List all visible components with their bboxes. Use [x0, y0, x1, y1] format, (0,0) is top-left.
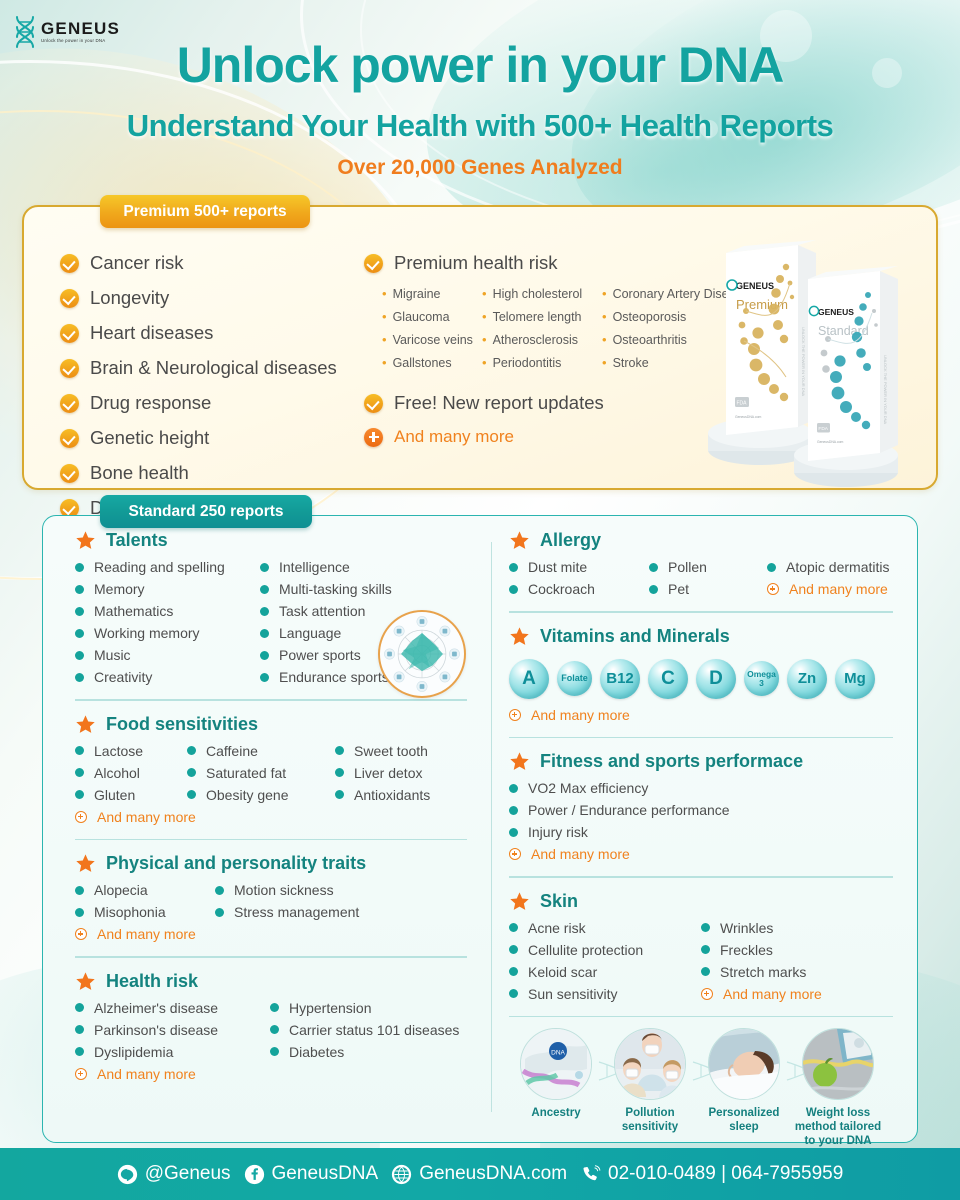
section-header: Skin: [509, 891, 893, 912]
list-item: Alzheimer's disease: [75, 1000, 270, 1016]
bullet-dot-icon: [260, 563, 269, 572]
svg-text:FDA: FDA: [737, 401, 748, 407]
health-risk-label: Atherosclerosis: [493, 333, 578, 347]
premium-badge: Premium 500+ reports: [100, 195, 310, 228]
bullet-dot-icon: [270, 1025, 279, 1034]
more-label: And many more: [531, 846, 630, 862]
section-title: Health risk: [106, 971, 198, 992]
item-label: Keloid scar: [528, 964, 597, 980]
bullet-dot-icon: •: [382, 310, 387, 324]
star-icon: [509, 530, 530, 551]
item-label: Cellulite protection: [528, 942, 643, 958]
svg-text:UNLOCK THE POWER IN YOUR DNA: UNLOCK THE POWER IN YOUR DNA: [801, 327, 806, 397]
phone-numbers: 02-010-0489 | 064-7955959: [608, 1163, 843, 1185]
and-many-more-link[interactable]: And many more: [701, 986, 893, 1002]
bullet-dot-icon: [187, 746, 196, 755]
bullet-dot-icon: [260, 673, 269, 682]
bullet-dot-icon: •: [602, 287, 607, 301]
item-label: Antioxidants: [354, 787, 430, 803]
check-icon: [364, 394, 383, 413]
premium-item-label: Heart diseases: [90, 322, 213, 344]
item-label: Mathematics: [94, 603, 173, 619]
vitamin-bubble-folate: Folate: [557, 661, 592, 696]
section-food-sensitivities: Food sensitivities Lactose Caffeine Swee…: [61, 714, 481, 825]
section-items: Alopecia Motion sickness Misophonia Stre…: [75, 882, 467, 920]
section-health-risk: Health risk Alzheimer's disease Hyperten…: [61, 971, 481, 1082]
bullet-dot-icon: [75, 746, 84, 755]
premium-item: Longevity: [60, 287, 390, 309]
sleeping-woman-photo: [708, 1028, 780, 1100]
section-title: Allergy: [540, 530, 601, 551]
item-label: Motion sickness: [234, 882, 334, 898]
product-boxes-image: GENEUS Premium FDA GeneusDNA.com UNLOCK …: [698, 237, 918, 487]
facebook-icon: [244, 1164, 265, 1185]
vitamin-bubble-d: D: [696, 659, 736, 699]
list-item: Motion sickness: [215, 882, 467, 898]
divider: [509, 1016, 893, 1018]
check-icon: [364, 254, 383, 273]
bullet-dot-icon: [75, 563, 84, 572]
logo-wordmark: GENEUS: [41, 20, 120, 37]
list-item: Saturated fat: [187, 765, 335, 781]
health-risk-label: Telomere length: [493, 310, 582, 324]
premium-left-list: Cancer risk Longevity Heart diseases Bra…: [60, 252, 390, 532]
item-label: Working memory: [94, 625, 200, 641]
divider: [75, 839, 467, 841]
list-item: Working memory: [75, 625, 260, 641]
list-item: Lactose: [75, 743, 187, 759]
globe-icon: [391, 1164, 412, 1185]
bullet-dot-icon: [509, 563, 518, 572]
and-many-more-link[interactable]: And many more: [767, 581, 893, 597]
premium-item: Heart diseases: [60, 322, 390, 344]
svg-text:GeneusDNA.com: GeneusDNA.com: [735, 415, 762, 419]
item-label: VO2 Max efficiency: [528, 780, 648, 796]
bullet-dot-icon: [75, 585, 84, 594]
bullet-dot-icon: [75, 651, 84, 660]
item-label: Multi-tasking skills: [279, 581, 392, 597]
bullet-dot-icon: [509, 585, 518, 594]
section-header: Vitamins and Minerals: [509, 626, 893, 647]
feature-personalized-sleep: Personalized sleep: [699, 1028, 789, 1134]
item-label: Creativity: [94, 669, 152, 685]
bullet-dot-icon: [75, 607, 84, 616]
feature-label: Pollution sensitivity: [605, 1106, 695, 1134]
premium-more-label: And many more: [394, 427, 514, 447]
list-item: Caffeine: [187, 743, 335, 759]
list-item: Intelligence: [260, 559, 467, 575]
svg-text:DNA: DNA: [551, 1050, 565, 1057]
premium-item: Brain & Neurological diseases: [60, 357, 390, 379]
premium-item-label: Longevity: [90, 287, 169, 309]
svg-text:FDA: FDA: [818, 426, 828, 432]
star-icon: [75, 530, 96, 551]
health-risk-item: •High cholesterol: [482, 287, 602, 301]
item-label: Parkinson's disease: [94, 1022, 218, 1038]
bullet-dot-icon: [270, 1047, 279, 1056]
list-item: Obesity gene: [187, 787, 335, 803]
item-label: Liver detox: [354, 765, 422, 781]
talents-radar-chart: [378, 610, 466, 698]
health-risk-item: •Migraine: [382, 287, 482, 301]
section-title: Talents: [106, 530, 168, 551]
premium-item: Cancer risk: [60, 252, 390, 274]
bullet-dot-icon: [75, 629, 84, 638]
divider: [509, 737, 893, 739]
health-risk-item: •Atherosclerosis: [482, 333, 602, 347]
footer-contact-bar: @Geneus GeneusDNA GeneusDNA.com 02-010: [0, 1148, 960, 1200]
item-label: Atopic dermatitis: [786, 559, 889, 575]
item-label: Intelligence: [279, 559, 350, 575]
list-item: Hypertension: [270, 1000, 467, 1016]
section-header: Fitness and sports performace: [509, 751, 893, 772]
bullet-dot-icon: [509, 806, 518, 815]
plus-icon: [767, 583, 779, 595]
item-label: Alopecia: [94, 882, 148, 898]
standard-panel: Talents Reading and spelling Intelligenc…: [42, 515, 918, 1143]
item-label: Gluten: [94, 787, 135, 803]
list-item: Carrier status 101 diseases: [270, 1022, 467, 1038]
svg-text:GENEUS: GENEUS: [736, 281, 774, 291]
page-title: Unlock power in your DNA: [0, 36, 960, 94]
plus-icon: [509, 709, 521, 721]
health-risk-item: •Periodontitis: [482, 356, 602, 370]
divider: [509, 611, 893, 613]
list-item: Sun sensitivity: [509, 986, 701, 1002]
item-label: Misophonia: [94, 904, 166, 920]
bullet-dot-icon: [270, 1003, 279, 1012]
standard-badge: Standard 250 reports: [100, 495, 312, 528]
bullet-dot-icon: [649, 585, 658, 594]
plus-icon: [75, 928, 87, 940]
plus-icon: [364, 428, 383, 447]
item-label: Diabetes: [289, 1044, 344, 1060]
list-item: Freckles: [701, 942, 893, 958]
item-label: Sun sensitivity: [528, 986, 617, 1002]
page-tagline: Over 20,000 Genes Analyzed: [0, 156, 960, 180]
item-label: Sweet tooth: [354, 743, 428, 759]
item-label: Music: [94, 647, 131, 663]
vitamin-bubble-omega3: Omega 3: [744, 661, 779, 696]
section-header: Physical and personality traits: [75, 853, 467, 874]
bullet-dot-icon: [75, 768, 84, 777]
health-risk-item: •Varicose veins: [382, 333, 482, 347]
bullet-dot-icon: •: [382, 287, 387, 301]
list-item: Pet: [649, 581, 767, 597]
bullet-dot-icon: •: [382, 333, 387, 347]
item-label: Stress management: [234, 904, 359, 920]
page-subtitle: Understand Your Health with 500+ Health …: [0, 108, 960, 144]
more-label: And many more: [97, 926, 196, 942]
list-item: Misophonia: [75, 904, 215, 920]
item-label: Caffeine: [206, 743, 258, 759]
list-item: Stress management: [215, 904, 467, 920]
premium-health-risk-title: Premium health risk: [394, 252, 557, 274]
vitamin-bubble-mg: Mg: [835, 659, 875, 699]
bullet-dot-icon: [75, 1003, 84, 1012]
list-item: Injury risk: [509, 824, 893, 840]
item-label: Lactose: [94, 743, 143, 759]
feature-label: Weight loss method tailored to your DNA: [793, 1106, 883, 1148]
list-item: Pollen: [649, 559, 767, 575]
plus-icon: [75, 811, 87, 823]
star-icon: [509, 891, 530, 912]
and-many-more-link[interactable]: And many more: [75, 926, 467, 942]
bullet-dot-icon: [215, 886, 224, 895]
item-label: Hypertension: [289, 1000, 372, 1016]
phone-icon: [580, 1164, 601, 1185]
list-item: Mathematics: [75, 603, 260, 619]
health-risk-label: Varicose veins: [393, 333, 473, 347]
health-risk-label: High cholesterol: [493, 287, 583, 301]
family-masks-photo: [614, 1028, 686, 1100]
list-item: Acne risk: [509, 920, 701, 936]
bullet-dot-icon: [215, 908, 224, 917]
bullet-dot-icon: •: [602, 310, 607, 324]
item-label: Alzheimer's disease: [94, 1000, 218, 1016]
health-risk-label: Glaucoma: [393, 310, 450, 324]
section-title: Vitamins and Minerals: [540, 626, 730, 647]
bullet-dot-icon: [75, 1025, 84, 1034]
bullet-dot-icon: [701, 945, 710, 954]
section-header: Health risk: [75, 971, 467, 992]
item-label: Obesity gene: [206, 787, 289, 803]
list-item: Gluten: [75, 787, 187, 803]
vitamin-bubble-a: A: [509, 659, 549, 699]
bullet-dot-icon: [75, 790, 84, 799]
vitamin-bubble-b12: B12: [600, 659, 640, 699]
bullet-dot-icon: [767, 563, 776, 572]
divider: [509, 876, 893, 878]
check-icon: [60, 324, 79, 343]
vitamin-bubble-zn: Zn: [787, 659, 827, 699]
bullet-dot-icon: •: [482, 356, 487, 370]
health-risk-label: Osteoarthritis: [613, 333, 687, 347]
plus-icon: [75, 1068, 87, 1080]
bullet-dot-icon: [75, 673, 84, 682]
section-title: Fitness and sports performace: [540, 751, 803, 772]
bullet-dot-icon: [260, 629, 269, 638]
standard-right-column: Allergy Dust mite Pollen Atopic dermatit…: [495, 530, 907, 1030]
section-title: Physical and personality traits: [106, 853, 366, 874]
list-item: Stretch marks: [701, 964, 893, 980]
list-item: Parkinson's disease: [75, 1022, 270, 1038]
bullet-dot-icon: [509, 784, 518, 793]
item-label: Power / Endurance performance: [528, 802, 730, 818]
premium-item-label: Brain & Neurological diseases: [90, 357, 337, 379]
health-risk-item: •Telomere length: [482, 310, 602, 324]
star-icon: [75, 714, 96, 735]
premium-item-label: Genetic height: [90, 427, 209, 449]
bullet-dot-icon: [335, 768, 344, 777]
section-fitness-and-sports-performance: Fitness and sports performace VO2 Max ef…: [495, 751, 907, 862]
list-item: Memory: [75, 581, 260, 597]
more-label: And many more: [531, 707, 630, 723]
more-label: And many more: [723, 986, 822, 1002]
section-allergy: Allergy Dust mite Pollen Atopic dermatit…: [495, 530, 907, 597]
more-label: And many more: [97, 1066, 196, 1082]
list-item: Dyslipidemia: [75, 1044, 270, 1060]
list-item: Reading and spelling: [75, 559, 260, 575]
section-physical-personality-traits: Physical and personality traits Alopecia…: [61, 853, 481, 942]
star-icon: [75, 971, 96, 992]
item-label: Power sports: [279, 647, 361, 663]
health-risk-label: Periodontitis: [493, 356, 562, 370]
item-label: Wrinkles: [720, 920, 773, 936]
more-label: And many more: [97, 809, 196, 825]
and-many-more-link[interactable]: And many more: [75, 809, 467, 825]
bullet-dot-icon: [75, 908, 84, 917]
check-icon: [60, 464, 79, 483]
bullet-dot-icon: [701, 967, 710, 976]
health-risk-item: •Gallstones: [382, 356, 482, 370]
section-items: Lactose Caffeine Sweet tooth Alcohol Sat…: [75, 743, 467, 803]
footer-line-contact[interactable]: @Geneus: [117, 1163, 231, 1185]
svg-text:UNLOCK THE POWER IN YOUR DNA: UNLOCK THE POWER IN YOUR DNA: [883, 355, 888, 425]
premium-item-label: Drug response: [90, 392, 211, 414]
check-icon: [60, 289, 79, 308]
bullet-dot-icon: [509, 967, 518, 976]
svg-text:GeneusDNA.com: GeneusDNA.com: [817, 440, 844, 444]
section-items: Dust mite Pollen Atopic dermatitis Cockr…: [509, 559, 893, 597]
bullet-dot-icon: [509, 945, 518, 954]
plus-icon: [701, 988, 713, 1000]
section-title: Food sensitivities: [106, 714, 258, 735]
bullet-dot-icon: [509, 989, 518, 998]
bullet-dot-icon: [649, 563, 658, 572]
bullet-dot-icon: [260, 585, 269, 594]
feature-pollution-sensitivity: Pollution sensitivity: [605, 1028, 695, 1134]
feature-ancestry: DNA Ancestry: [511, 1028, 601, 1120]
list-item: Multi-tasking skills: [260, 581, 467, 597]
bullet-dot-icon: [260, 607, 269, 616]
list-item: Liver detox: [335, 765, 467, 781]
item-label: Task attention: [279, 603, 365, 619]
health-risk-label: Migraine: [393, 287, 441, 301]
list-item: Dust mite: [509, 559, 649, 575]
bullet-dot-icon: [335, 790, 344, 799]
bullet-dot-icon: [260, 651, 269, 660]
bullet-dot-icon: •: [602, 356, 607, 370]
feature-label: Ancestry: [511, 1106, 601, 1120]
list-item: Creativity: [75, 669, 260, 685]
list-item: Alopecia: [75, 882, 215, 898]
footer-website[interactable]: GeneusDNA.com: [391, 1163, 567, 1185]
plus-icon: [509, 848, 521, 860]
premium-panel: Cancer risk Longevity Heart diseases Bra…: [22, 205, 938, 490]
section-items: VO2 Max efficiency Power / Endurance per…: [509, 780, 893, 862]
list-item: Wrinkles: [701, 920, 893, 936]
item-label: Saturated fat: [206, 765, 286, 781]
website-url: GeneusDNA.com: [419, 1163, 567, 1185]
bullet-dot-icon: •: [382, 356, 387, 370]
bullet-dot-icon: [187, 790, 196, 799]
divider: [75, 699, 467, 701]
bullet-dot-icon: [75, 886, 84, 895]
premium-item-label: Cancer risk: [90, 252, 184, 274]
item-label: Pet: [668, 581, 689, 597]
footer-facebook-contact[interactable]: GeneusDNA: [244, 1163, 379, 1185]
facebook-handle: GeneusDNA: [272, 1163, 379, 1185]
item-label: Injury risk: [528, 824, 588, 840]
item-label: Freckles: [720, 942, 773, 958]
list-item: Power / Endurance performance: [509, 802, 893, 818]
item-label: Dyslipidemia: [94, 1044, 173, 1060]
header: GENEUS Unlock the power in your DNA Unlo…: [0, 0, 960, 195]
item-label: Pollen: [668, 559, 707, 575]
premium-item-label: Bone health: [90, 462, 189, 484]
bullet-dot-icon: [509, 923, 518, 932]
list-item: Cellulite protection: [509, 942, 701, 958]
check-icon: [60, 394, 79, 413]
list-item: Antioxidants: [335, 787, 467, 803]
item-label: Carrier status 101 diseases: [289, 1022, 459, 1038]
health-risk-label: Gallstones: [393, 356, 452, 370]
and-many-more-link[interactable]: And many more: [75, 1066, 467, 1082]
list-item: Atopic dermatitis: [767, 559, 893, 575]
infographic-page: GENEUS Unlock the power in your DNA Unlo…: [0, 0, 960, 1200]
section-skin: Skin Acne risk Wrinkles Cellulite protec…: [495, 891, 907, 1002]
section-title: Skin: [540, 891, 578, 912]
bullet-dot-icon: [701, 923, 710, 932]
premium-item: Genetic height: [60, 427, 390, 449]
health-risk-item: •Glaucoma: [382, 310, 482, 324]
star-icon: [509, 751, 530, 772]
section-header: Food sensitivities: [75, 714, 467, 735]
bullet-dot-icon: •: [482, 310, 487, 324]
list-item: Music: [75, 647, 260, 663]
feature-photo-strip: DNA Ancestry: [509, 1028, 960, 1152]
list-item: VO2 Max efficiency: [509, 780, 893, 796]
list-item: Alcohol: [75, 765, 187, 781]
item-label: Endurance sports: [279, 669, 389, 685]
svg-text:GENEUS: GENEUS: [818, 307, 854, 317]
item-label: Memory: [94, 581, 145, 597]
feature-weight-loss: Weight loss method tailored to your DNA: [793, 1028, 883, 1148]
feature-label: Personalized sleep: [699, 1106, 789, 1134]
check-icon: [60, 254, 79, 273]
check-icon: [60, 429, 79, 448]
health-risk-label: Stroke: [613, 356, 649, 370]
premium-item: Bone health: [60, 462, 390, 484]
vitamin-bubbles: A Folate B12 C D Omega 3 Zn Mg: [495, 655, 907, 705]
divider: [75, 956, 467, 958]
item-label: Language: [279, 625, 341, 641]
star-icon: [75, 853, 96, 874]
premium-item: Drug response: [60, 392, 390, 414]
and-many-more-link[interactable]: And many more: [509, 707, 907, 723]
line-handle: @Geneus: [145, 1163, 231, 1185]
column-divider: [491, 542, 492, 1112]
section-vitamins-and-minerals: Vitamins and Minerals: [495, 626, 907, 647]
vitamin-bubble-c: C: [648, 659, 688, 699]
section-header: Allergy: [509, 530, 893, 551]
item-label: Dust mite: [528, 559, 587, 575]
section-header: Talents: [75, 530, 467, 551]
bullet-dot-icon: [187, 768, 196, 777]
line-icon: [117, 1164, 138, 1185]
more-label: And many more: [789, 581, 888, 597]
section-items: Alzheimer's disease Hypertension Parkins…: [75, 1000, 467, 1060]
and-many-more-link[interactable]: And many more: [509, 846, 893, 862]
bullet-dot-icon: •: [602, 333, 607, 347]
item-label: Acne risk: [528, 920, 586, 936]
health-risk-label: Osteoporosis: [613, 310, 687, 324]
ancestry-map-photo: DNA: [520, 1028, 592, 1100]
footer-phone[interactable]: 02-010-0489 | 064-7955959: [580, 1163, 843, 1185]
item-label: Alcohol: [94, 765, 140, 781]
list-item: Sweet tooth: [335, 743, 467, 759]
